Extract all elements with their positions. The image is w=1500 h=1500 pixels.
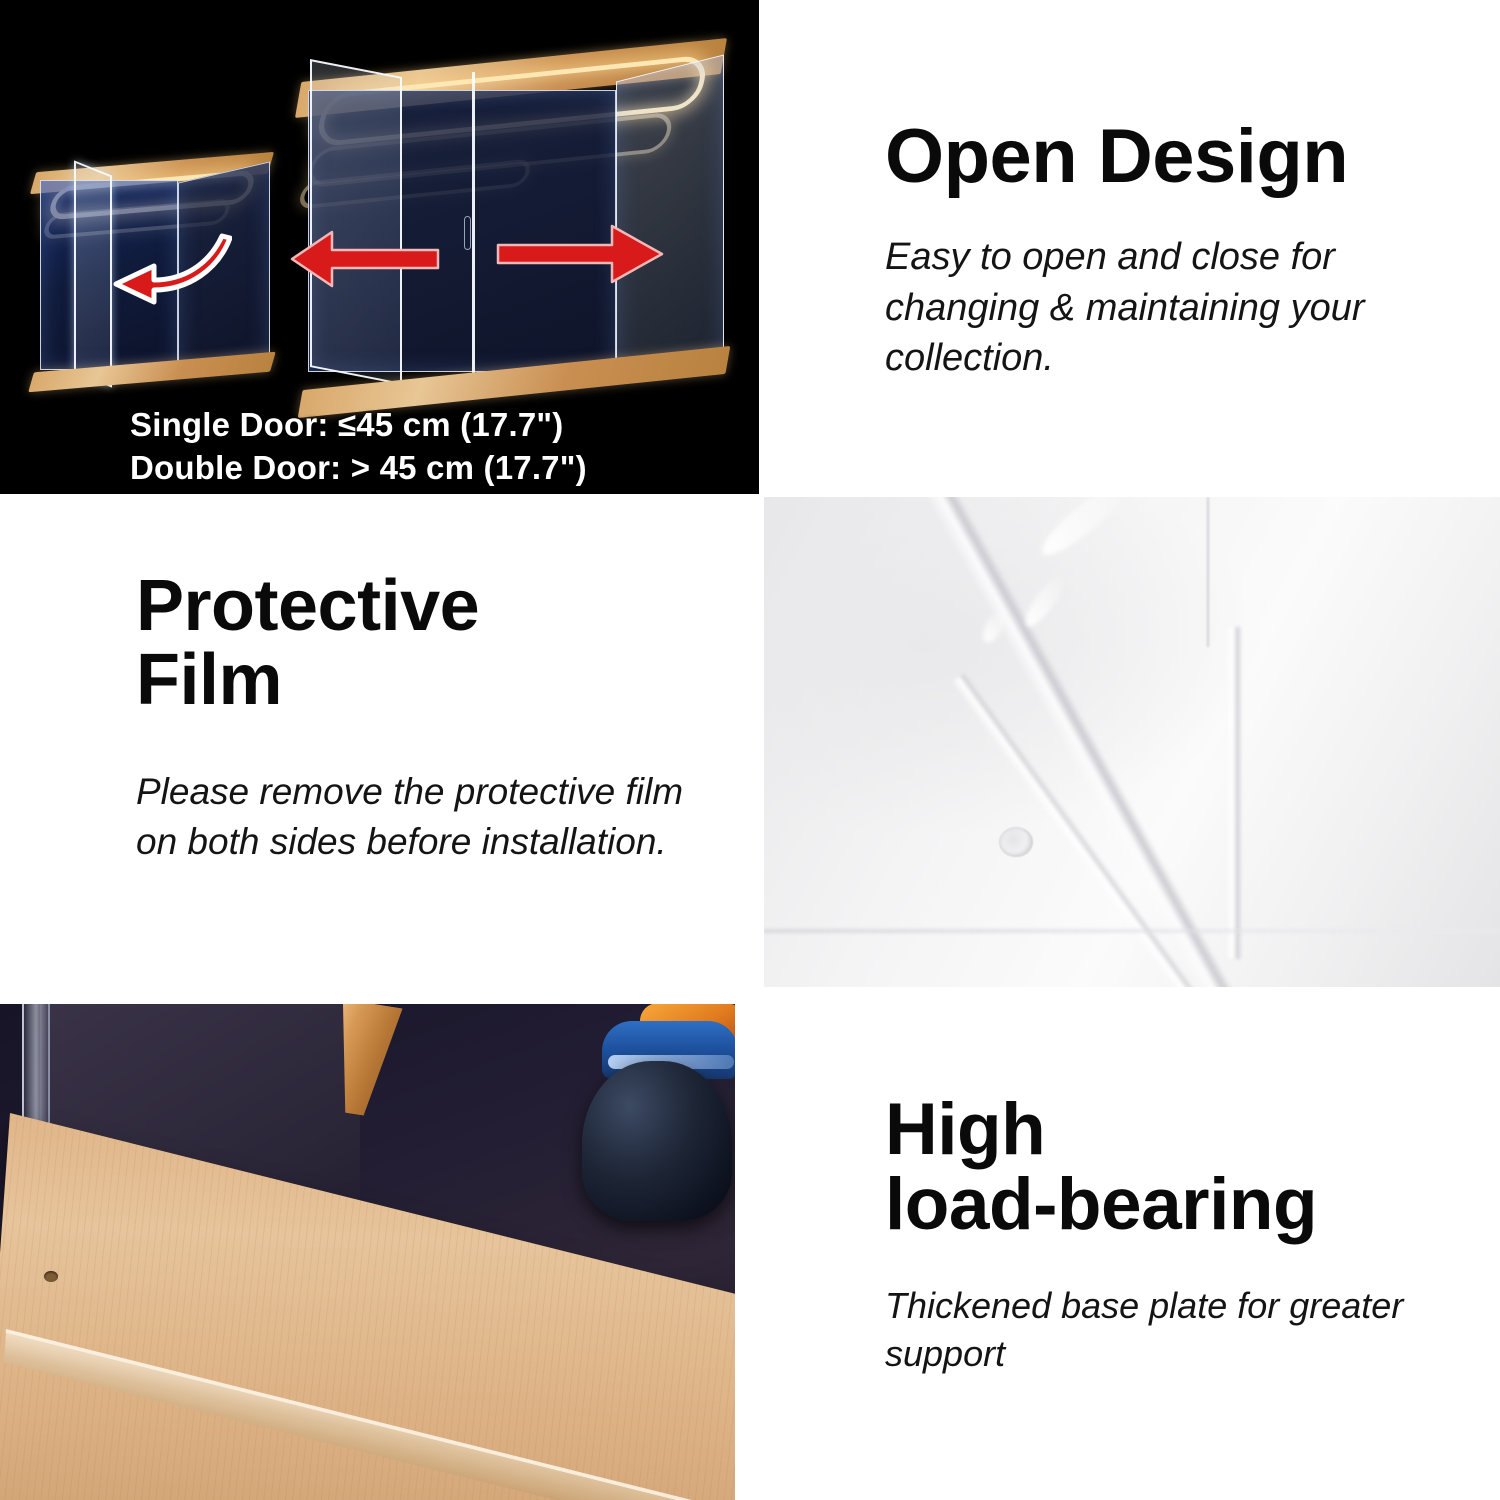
curved-arrow-open-icon: [96, 222, 232, 308]
panel-divider-horizontal-1: [0, 494, 763, 499]
acrylic-panel-edge: [1207, 497, 1209, 647]
mounting-hole: [44, 1271, 58, 1282]
load-bearing-copy: High load-bearing Thickened base plate f…: [885, 1092, 1485, 1378]
panel-bottom-edge: [763, 929, 1500, 933]
arrow-right-icon: [496, 222, 666, 286]
acrylic-side-panel: [616, 55, 724, 382]
protective-film-copy: Protective Film Please remove the protec…: [136, 569, 696, 866]
film-crease-vertical: [1226, 627, 1242, 959]
panel-divider-vertical-bottom: [735, 1003, 765, 1500]
protective-film-headline-line2: Film: [136, 643, 696, 717]
panel-divider-vertical-top: [759, 0, 764, 497]
caption-line-double: Double Door: > 45 cm (17.7"): [130, 447, 730, 490]
figure-dark-boot: [582, 1061, 732, 1221]
open-design-subtext: Easy to open and close for changing & ma…: [885, 232, 1485, 384]
open-door-panel-left: [310, 59, 402, 385]
open-design-text-panel: Open Design Easy to open and close for c…: [763, 0, 1500, 497]
protective-film-image-panel: [763, 497, 1500, 987]
film-highlight-1: [1035, 497, 1131, 563]
panel-divider-horizontal-2: [0, 999, 763, 1004]
load-bearing-subtext: Thickened base plate for greater support: [885, 1282, 1485, 1378]
door-size-caption: Single Door: ≤45 cm (17.7") Double Door:…: [130, 404, 730, 490]
load-bearing-image-panel: [0, 1003, 737, 1500]
door-divider-edge: [472, 72, 475, 374]
arrow-left-icon: [288, 228, 440, 290]
film-crease-main: [893, 497, 1254, 987]
door-handle: [464, 216, 471, 250]
protective-film-headline-line1: Protective: [136, 569, 696, 643]
film-highlight-2: [1020, 573, 1068, 631]
open-design-headline: Open Design: [885, 118, 1485, 196]
load-bearing-headline-line1: High: [885, 1092, 1485, 1167]
caption-line-single: Single Door: ≤45 cm (17.7"): [130, 404, 730, 447]
protective-film-closeup: [763, 497, 1500, 987]
panel-divider-vertical-middle: [759, 497, 764, 987]
load-bearing-text-panel: High load-bearing Thickened base plate f…: [763, 987, 1500, 1500]
protective-film-subtext: Please remove the protective film on bot…: [136, 767, 696, 865]
display-case-door-diagram: Single Door: ≤45 cm (17.7") Double Door:…: [0, 0, 763, 497]
blue-black-figure-base: [556, 1003, 737, 1221]
wood-base-plate-photo: [0, 1003, 737, 1500]
mounting-hole: [999, 827, 1033, 857]
load-bearing-headline-line2: load-bearing: [885, 1167, 1485, 1242]
open-design-copy: Open Design Easy to open and close for c…: [885, 118, 1485, 384]
open-design-image-panel: Single Door: ≤45 cm (17.7") Double Door:…: [0, 0, 763, 497]
protective-film-text-panel: Protective Film Please remove the protec…: [0, 497, 763, 1003]
infographic-sheet: Single Door: ≤45 cm (17.7") Double Door:…: [0, 0, 1500, 1500]
